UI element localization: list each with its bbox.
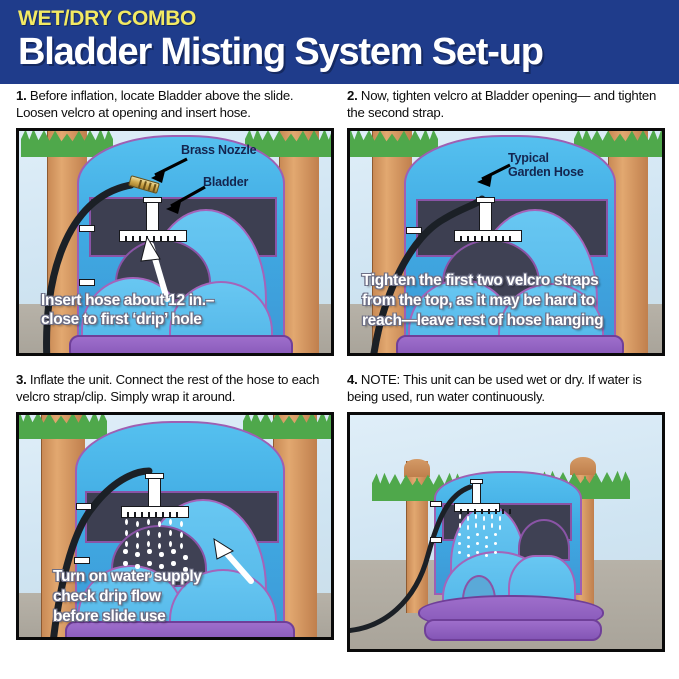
step-3-illustration: Turn on water supply check drip flow bef… <box>16 412 334 640</box>
step-1-illustration: Brass Nozzle Bladder Insert hose about 1… <box>16 128 334 356</box>
step-2-number: 2. <box>347 88 358 103</box>
step-1-caption-text: Before inflation, locate Bladder above t… <box>16 88 293 120</box>
step-1-overlay-line-1: Insert hose about 12 in.– <box>41 291 214 310</box>
step-2-overlay-line-2: from the top, as it may be hard to <box>362 291 595 310</box>
garden-hose-label-line-2: Garden Hose <box>508 165 584 179</box>
step-4-caption-text: NOTE: This unit can be used wet or dry. … <box>347 372 642 404</box>
step-1: 1. Before inflation, locate Bladder abov… <box>16 88 334 356</box>
header-kicker: WET/DRY COMBO <box>18 7 679 30</box>
step-3-overlay-line-2: check drip flow <box>53 587 161 606</box>
step-2-overlay-line-1: Tighten the first two velcro straps <box>362 271 598 290</box>
bladder-bar <box>454 503 500 512</box>
step-3-caption-text: Inflate the unit. Connect the rest of th… <box>16 372 319 404</box>
step-4-number: 4. <box>347 372 358 387</box>
step-2: 2. Now, tighten velcro at Bladder openin… <box>347 88 665 356</box>
step-2-caption: 2. Now, tighten velcro at Bladder openin… <box>347 88 665 128</box>
hose-path <box>350 415 665 652</box>
instruction-sheet: WET/DRY COMBO Bladder Misting System Set… <box>0 0 679 679</box>
typical-garden-hose-label: Typical Garden Hose <box>508 151 584 179</box>
step-1-overlay-line-2: close to first ‘drip’ hole <box>41 310 202 329</box>
step-3-overlay-line-1: Turn on water supply <box>53 567 202 586</box>
step-3-caption: 3. Inflate the unit. Connect the rest of… <box>16 372 334 412</box>
step-3-number: 3. <box>16 372 27 387</box>
page-title: Bladder Misting System Set-up <box>18 30 679 74</box>
velcro-clip-lower <box>430 537 442 543</box>
step-1-caption: 1. Before inflation, locate Bladder abov… <box>16 88 334 128</box>
step-3: 3. Inflate the unit. Connect the rest of… <box>16 372 334 640</box>
step-3-overlay-line-3: before slide use <box>53 607 165 626</box>
page-header: WET/DRY COMBO Bladder Misting System Set… <box>0 0 679 84</box>
velcro-clip-upper <box>430 501 442 507</box>
step-2-overlay-line-3: reach—leave rest of hose hanging <box>362 311 603 330</box>
bladder-stem <box>472 483 481 505</box>
steps-grid: 1. Before inflation, locate Bladder abov… <box>0 84 679 679</box>
garden-hose-label-line-1: Typical <box>508 151 584 165</box>
step-1-number: 1. <box>16 88 27 103</box>
step-2-illustration: Typical Garden Hose Tighten the first tw… <box>347 128 665 356</box>
step-4-caption: 4. NOTE: This unit can be used wet or dr… <box>347 372 665 412</box>
step-4: 4. NOTE: This unit can be used wet or dr… <box>347 372 665 652</box>
step-4-illustration <box>347 412 665 652</box>
step-2-caption-text: Now, tighten velcro at Bladder opening— … <box>347 88 656 120</box>
